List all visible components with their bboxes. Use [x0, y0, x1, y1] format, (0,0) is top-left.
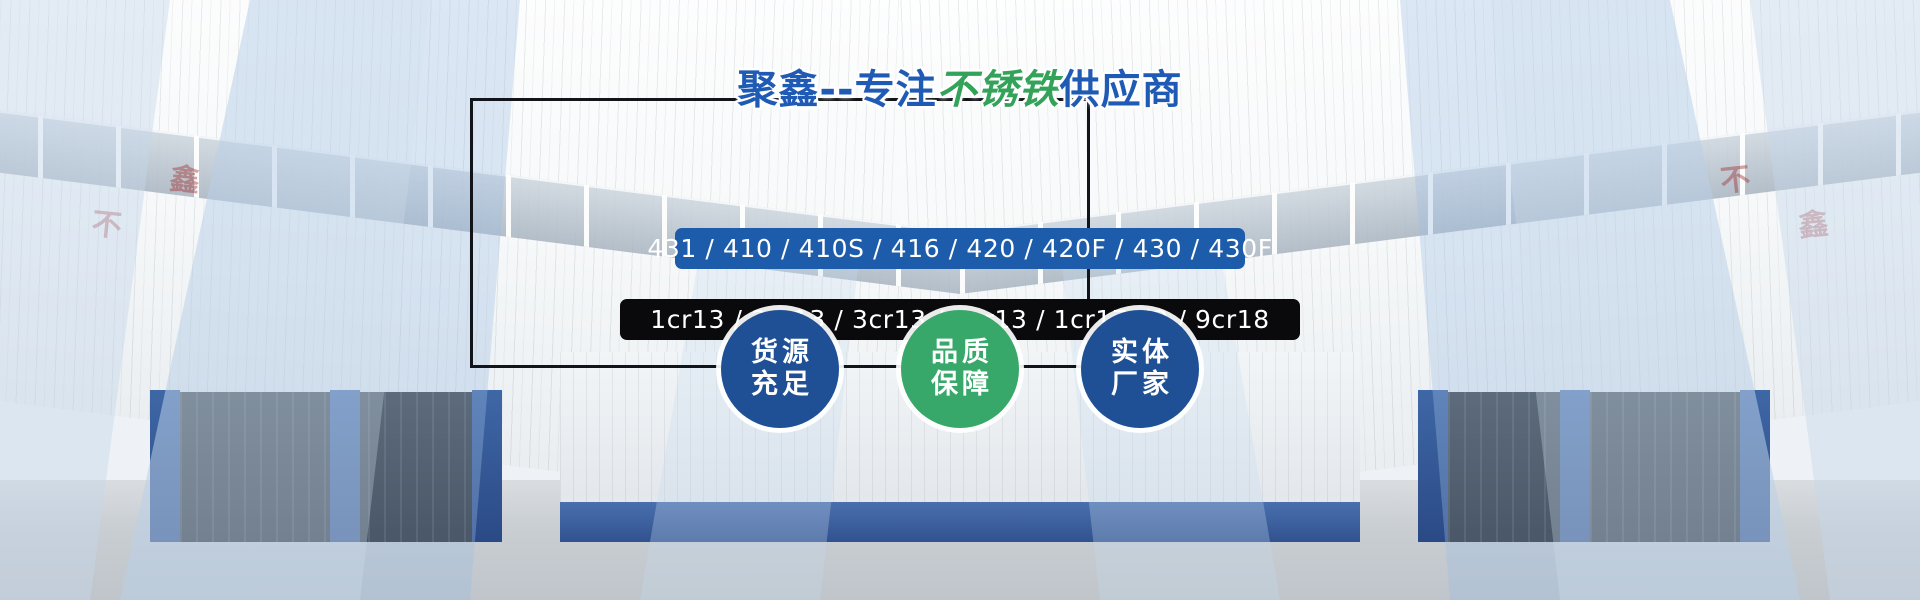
feature-badge-factory-line1: 实体 — [1107, 337, 1173, 369]
headline-part-one: 聚鑫--专注 — [737, 67, 936, 113]
headline-highlight: 不锈铁 — [937, 67, 1060, 113]
feature-badge-quality-line1: 品质 — [927, 337, 993, 369]
grade-bar-primary-text: 431 / 410 / 410S / 416 / 420 / 420F / 43… — [647, 234, 1272, 263]
feature-badge-supply-line2: 充足 — [747, 369, 813, 401]
promotional-banner: 鑫 不 不 鑫 聚鑫--专注不锈铁供应商 431 / 410 / 410S / … — [0, 0, 1920, 600]
grade-bar-primary: 431 / 410 / 410S / 416 / 420 / 420F / 43… — [675, 228, 1245, 269]
feature-badge-quality: 品质 保障 — [901, 310, 1019, 428]
feature-badge-factory-line2: 厂家 — [1107, 369, 1173, 401]
headline: 聚鑫--专注不锈铁供应商 — [0, 70, 1920, 110]
banner-content: 聚鑫--专注不锈铁供应商 431 / 410 / 410S / 416 / 42… — [0, 0, 1920, 600]
feature-badge-supply-line1: 货源 — [747, 337, 813, 369]
headline-part-two: 供应商 — [1060, 67, 1183, 113]
feature-badge-supply: 货源 充足 — [721, 310, 839, 428]
feature-badge-factory: 实体 厂家 — [1081, 310, 1199, 428]
feature-badge-quality-line2: 保障 — [927, 369, 993, 401]
feature-badges: 货源 充足 品质 保障 实体 厂家 — [0, 309, 1920, 429]
